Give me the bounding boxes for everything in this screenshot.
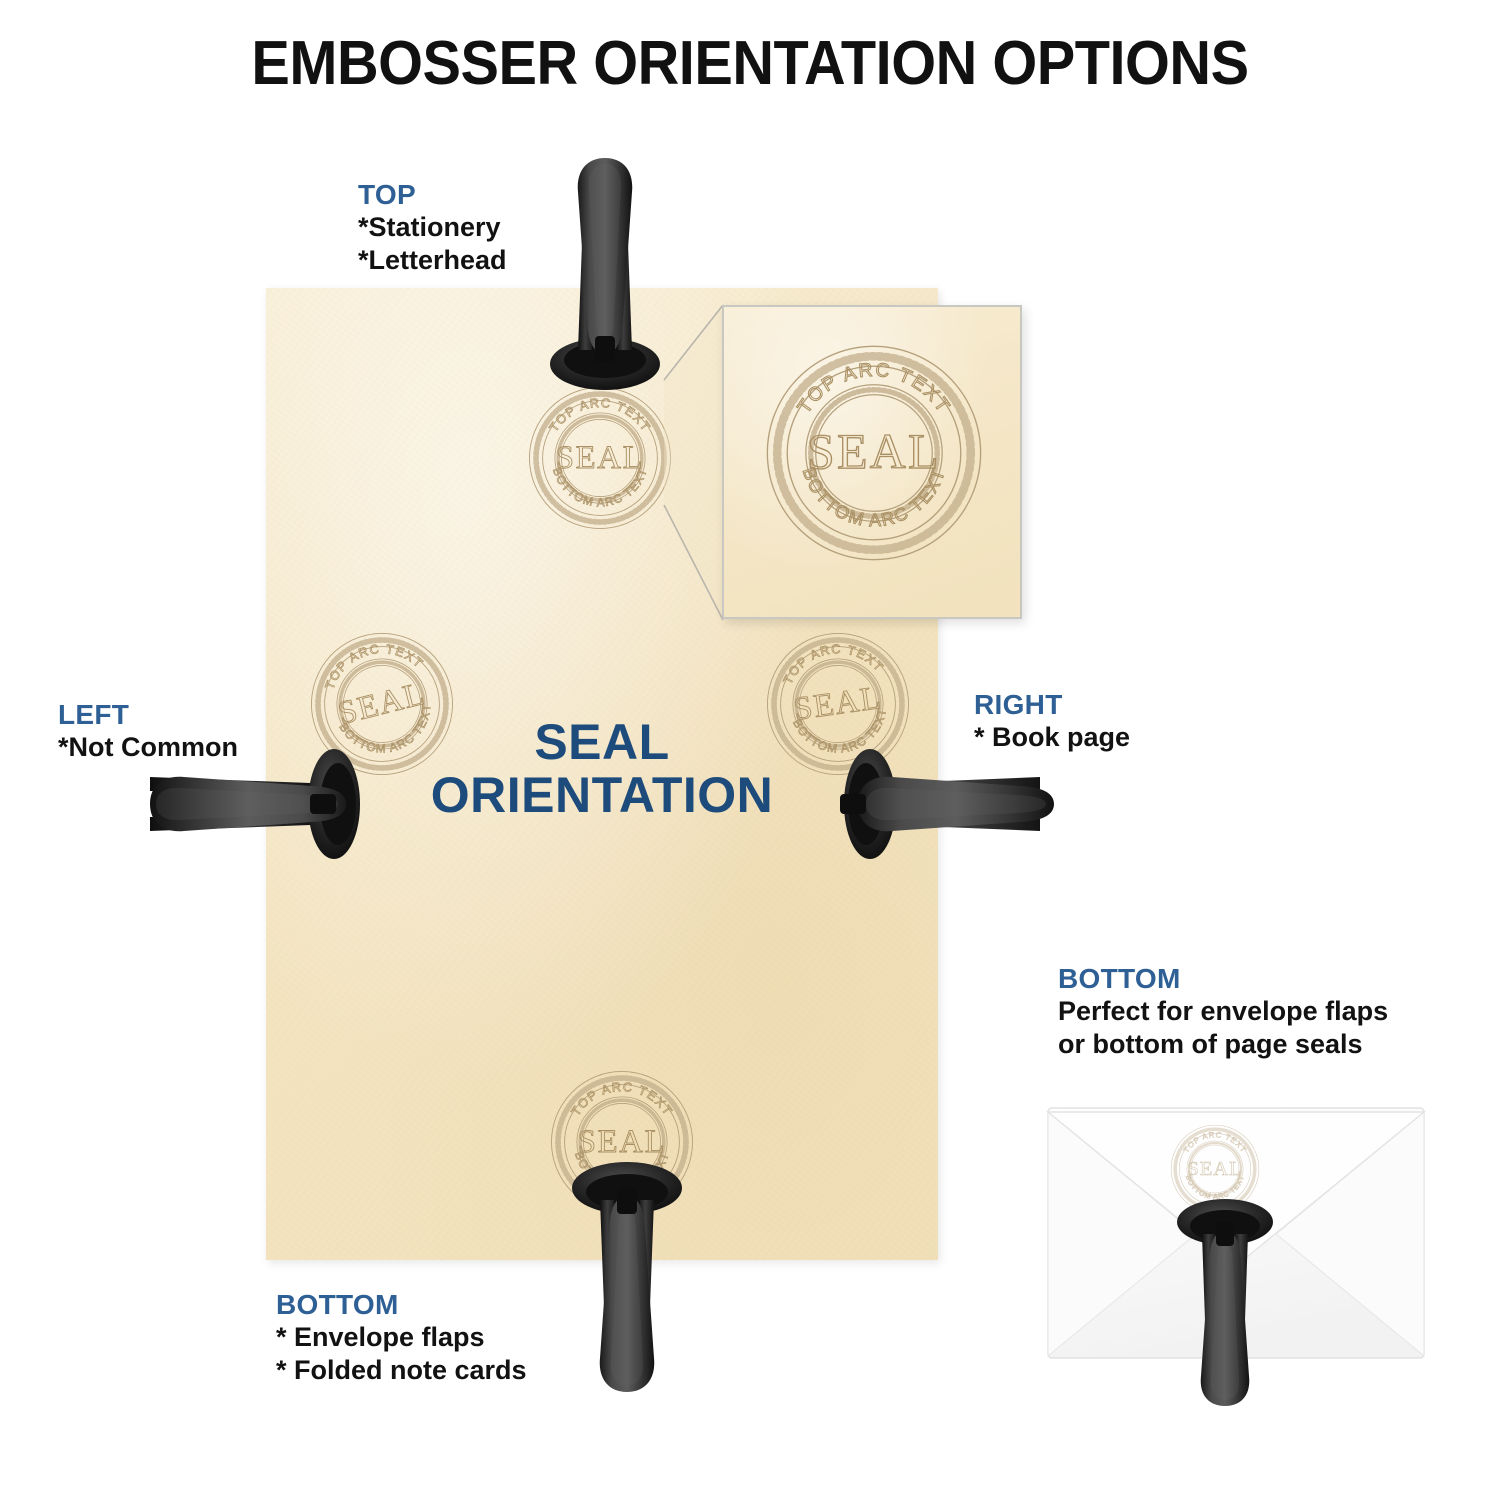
label-top-heading: TOP [358, 178, 507, 211]
label-right-heading: RIGHT [974, 688, 1130, 721]
label-top: TOP *Stationery *Letterhead [358, 178, 507, 277]
label-right-line-1: * Book page [974, 721, 1130, 754]
label-bottom-left-line-2: * Folded note cards [276, 1354, 527, 1387]
magnified-seal-callout [722, 305, 1022, 619]
label-bottom-right-heading: BOTTOM [1058, 962, 1388, 995]
label-right: RIGHT * Book page [974, 688, 1130, 754]
label-bottom-right-line-2: or bottom of page seals [1058, 1028, 1388, 1061]
label-bottom-right: BOTTOM Perfect for envelope flaps or bot… [1058, 962, 1388, 1061]
illustration-canvas: EMBOSSER ORIENTATION OPTIONS TOP ARC TEX… [0, 0, 1500, 1500]
label-top-line-2: *Letterhead [358, 244, 507, 277]
label-left: LEFT *Not Common [58, 698, 238, 764]
envelope-icon [1046, 1106, 1426, 1361]
label-bottom-left-heading: BOTTOM [276, 1288, 527, 1321]
label-left-heading: LEFT [58, 698, 238, 731]
label-bottom-left-line-1: * Envelope flaps [276, 1321, 527, 1354]
label-bottom-left: BOTTOM * Envelope flaps * Folded note ca… [276, 1288, 527, 1387]
embossed-seal-magnified [750, 329, 998, 577]
page-title: EMBOSSER ORIENTATION OPTIONS [53, 28, 1448, 99]
label-bottom-right-line-1: Perfect for envelope flaps [1058, 995, 1388, 1028]
label-top-line-1: *Stationery [358, 211, 507, 244]
label-left-line-1: *Not Common [58, 731, 238, 764]
